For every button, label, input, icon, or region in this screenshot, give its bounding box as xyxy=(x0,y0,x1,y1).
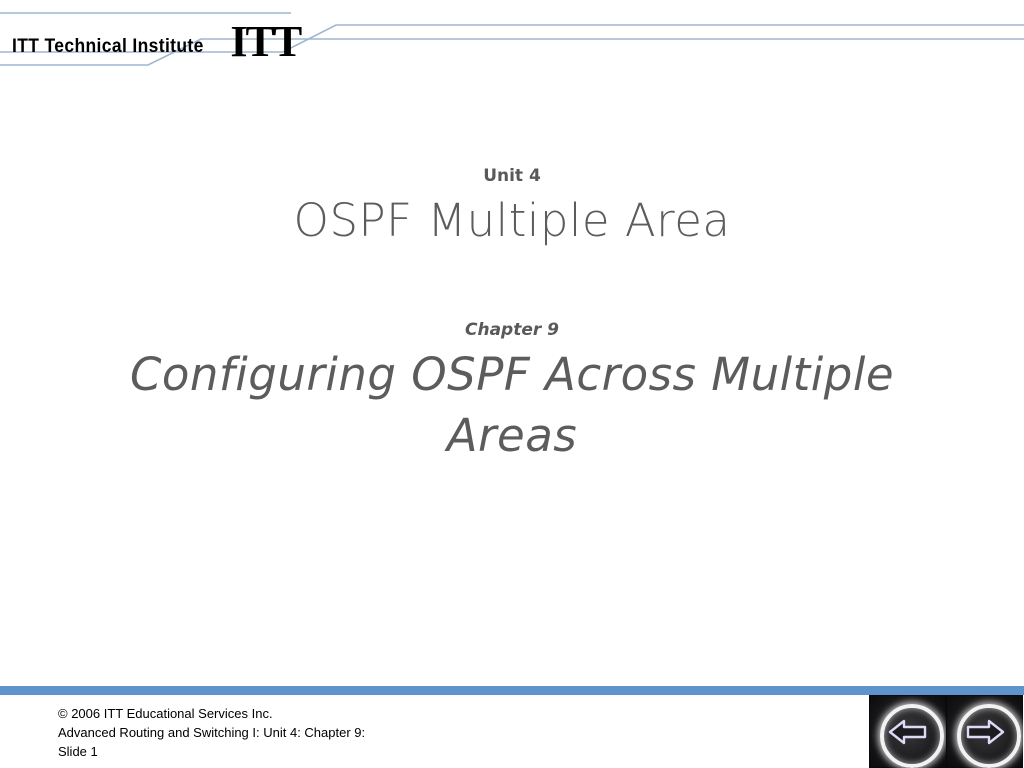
chapter-title-group: Chapter 9 Configuring OSPF Across Multip… xyxy=(0,320,1024,466)
footer-course: Advanced Routing and Switching I: Unit 4… xyxy=(58,724,365,743)
slide-content: Unit 4 OSPF Multiple Area Chapter 9 Conf… xyxy=(0,0,1024,768)
unit-headline: OSPF Multiple Area xyxy=(0,191,1024,251)
navigation-buttons xyxy=(869,695,1024,768)
previous-slide-button[interactable] xyxy=(869,695,946,768)
unit-title-group: Unit 4 OSPF Multiple Area xyxy=(0,166,1024,252)
arrow-right-icon xyxy=(964,716,1006,748)
arrow-left-icon xyxy=(887,716,929,748)
footer-slide-number: Slide 1 xyxy=(58,743,365,762)
chapter-headline: Configuring OSPF Across Multiple Areas xyxy=(0,345,1024,466)
footer-copyright: © 2006 ITT Educational Services Inc. xyxy=(58,705,365,724)
footer-text: © 2006 ITT Educational Services Inc. Adv… xyxy=(58,705,365,762)
chapter-eyebrow: Chapter 9 xyxy=(0,320,1024,341)
next-slide-button[interactable] xyxy=(946,695,1023,768)
unit-eyebrow: Unit 4 xyxy=(0,166,1024,187)
footer-accent-bar xyxy=(0,686,873,695)
footer-accent-bar-right xyxy=(873,686,1024,695)
